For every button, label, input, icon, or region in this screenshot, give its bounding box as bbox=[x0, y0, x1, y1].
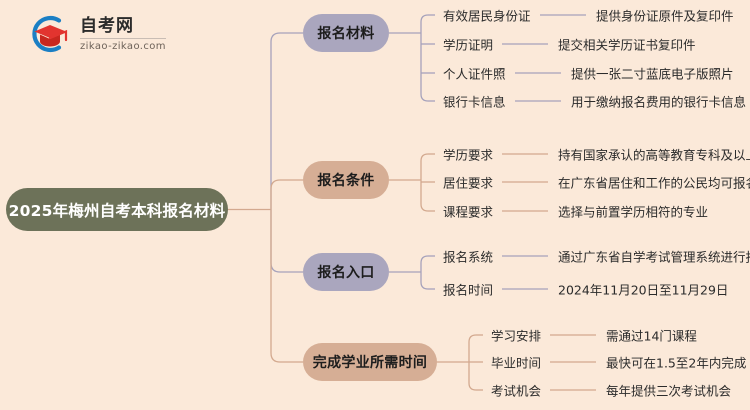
leaf-label[interactable]: 有效居民身份证 bbox=[443, 6, 531, 25]
leaf-label[interactable]: 毕业时间 bbox=[491, 353, 541, 372]
leaf-label[interactable]: 考试机会 bbox=[491, 381, 541, 400]
leaf-label[interactable]: 报名系统 bbox=[443, 247, 493, 266]
branch-node-1[interactable]: 报名材料 bbox=[303, 14, 389, 52]
leaf-description: 最快可在1.5至2年内完成 bbox=[606, 353, 746, 372]
leaf-label[interactable]: 居住要求 bbox=[443, 173, 493, 192]
leaf-description: 需通过14门课程 bbox=[606, 326, 697, 345]
leaf-label[interactable]: 学历证明 bbox=[443, 35, 493, 54]
leaf-description: 提供一张二寸蓝底电子版照片 bbox=[571, 64, 734, 83]
leaf-label[interactable]: 个人证件照 bbox=[443, 64, 506, 83]
leaf-label[interactable]: 报名时间 bbox=[443, 280, 493, 299]
leaf-description: 提供身份证原件及复印件 bbox=[596, 6, 734, 25]
leaf-label[interactable]: 课程要求 bbox=[443, 202, 493, 221]
leaf-description: 在广东省居住和工作的公民均可报名 bbox=[558, 173, 750, 192]
branch-node-2[interactable]: 报名条件 bbox=[303, 161, 389, 199]
leaf-description: 选择与前置学历相符的专业 bbox=[558, 202, 708, 221]
leaf-description: 用于缴纳报名费用的银行卡信息 bbox=[571, 92, 746, 111]
leaf-description: 2024年11月20日至11月29日 bbox=[558, 280, 728, 299]
branch-node-4[interactable]: 完成学业所需时间 bbox=[303, 343, 437, 381]
leaf-description: 持有国家承认的高等教育专科及以上学历 bbox=[558, 145, 750, 164]
leaf-description: 提交相关学历证书复印件 bbox=[558, 35, 696, 54]
leaf-description: 通过广东省自学考试管理系统进行报名 bbox=[558, 247, 750, 266]
leaf-label[interactable]: 学历要求 bbox=[443, 145, 493, 164]
mindmap-canvas: 2025年梅州自考本科报名材料 报名材料有效居民身份证提供身份证原件及复印件学历… bbox=[0, 0, 750, 410]
root-node[interactable]: 2025年梅州自考本科报名材料 bbox=[6, 188, 228, 231]
leaf-label[interactable]: 学习安排 bbox=[491, 326, 541, 345]
leaf-description: 每年提供三次考试机会 bbox=[606, 381, 731, 400]
branch-node-3[interactable]: 报名入口 bbox=[303, 253, 389, 291]
leaf-label[interactable]: 银行卡信息 bbox=[443, 92, 506, 111]
